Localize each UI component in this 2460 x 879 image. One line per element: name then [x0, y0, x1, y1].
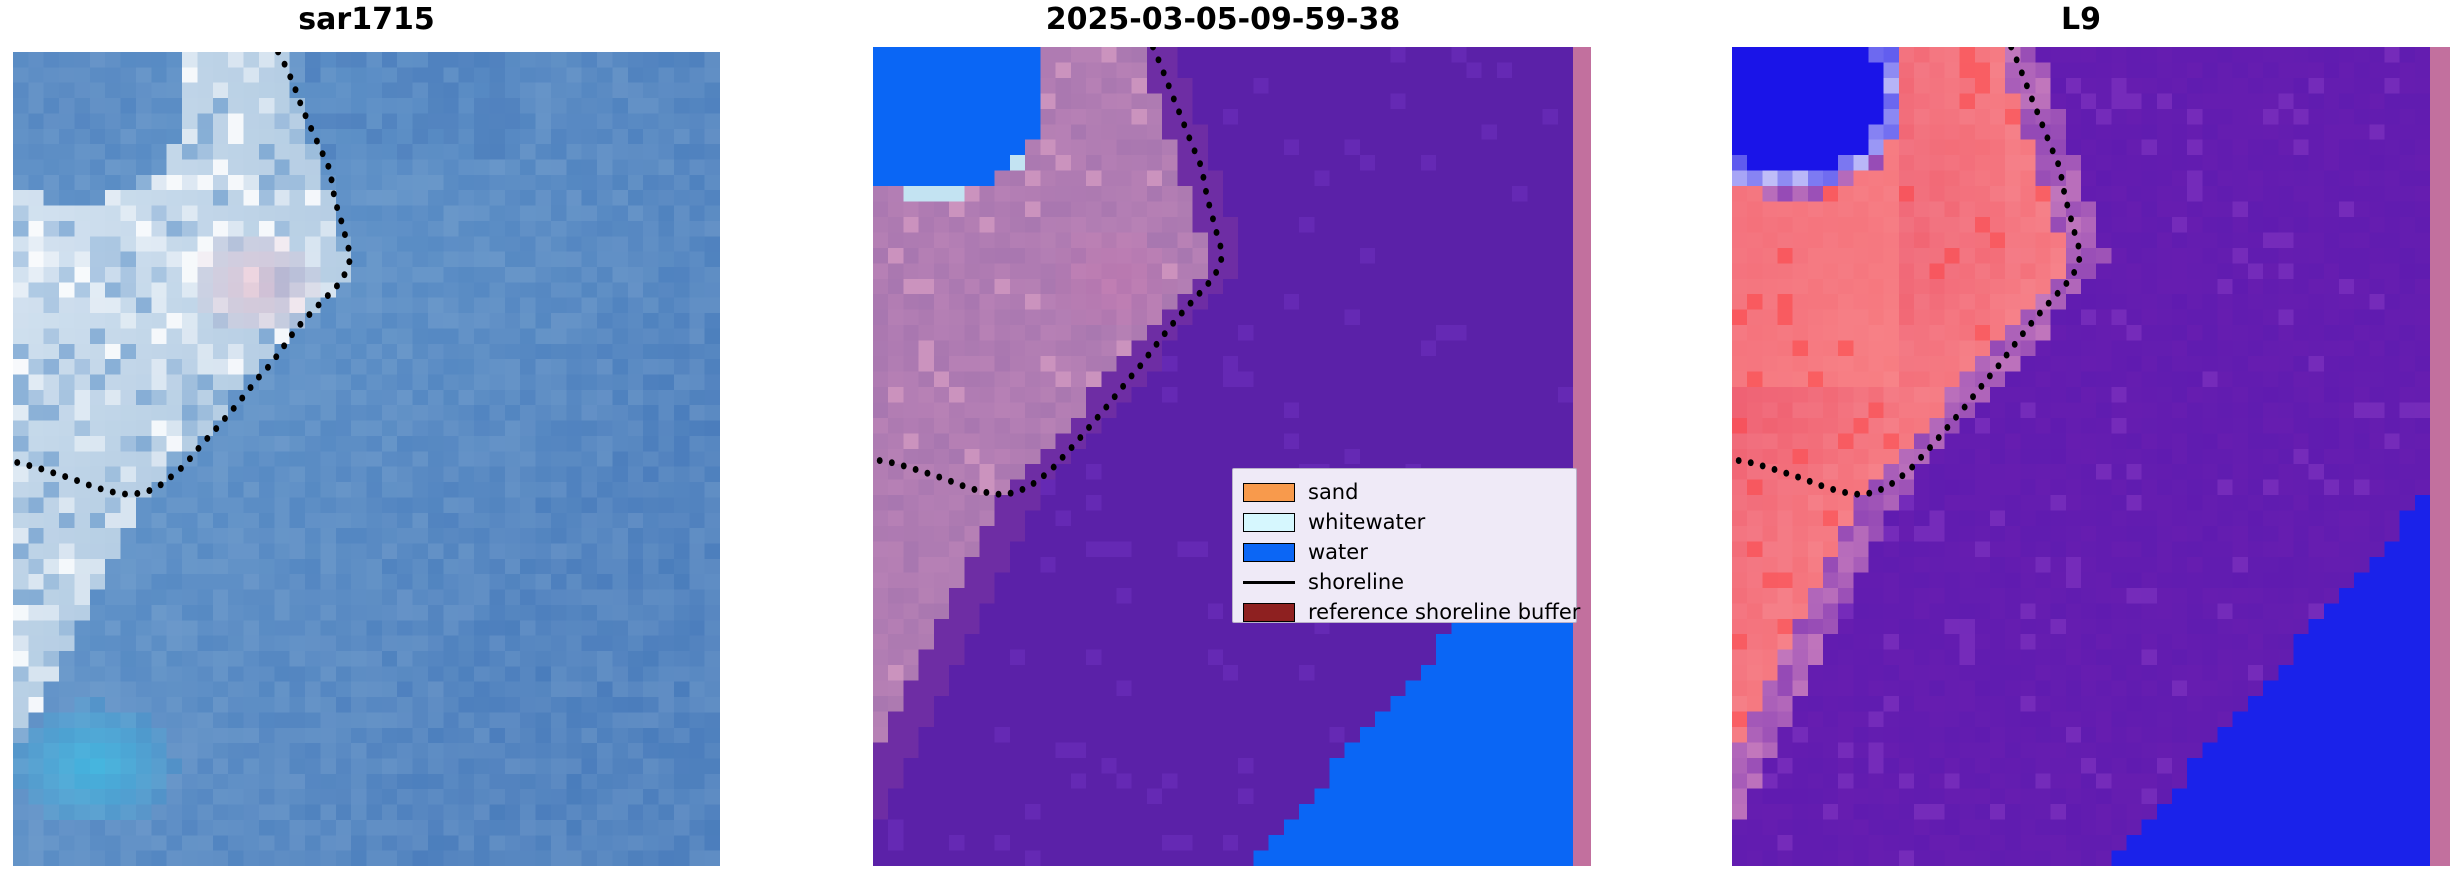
sar-image-panel[interactable]	[13, 52, 720, 866]
legend-item-label: sand	[1308, 481, 1358, 503]
classified-panel-title: 2025-03-05-09-59-38	[873, 2, 1573, 37]
legend-item-label: water	[1308, 541, 1368, 563]
l9-image-panel[interactable]	[1732, 47, 2430, 866]
figure-canvas: sar1715 2025-03-05-09-59-38 L9 sandwhite…	[0, 0, 2460, 879]
legend-color-swatch	[1243, 603, 1295, 622]
map-legend[interactable]: sandwhitewaterwatershorelinereference sh…	[1232, 468, 1577, 623]
legend-item-reference-shoreline-buffer[interactable]: reference shoreline buffer	[1243, 597, 1566, 627]
shoreline-overlay	[13, 52, 720, 866]
legend-color-swatch	[1243, 513, 1295, 532]
reference-shoreline-buffer-strip	[2430, 47, 2450, 866]
legend-item-sand[interactable]: sand	[1243, 477, 1566, 507]
legend-line-swatch	[1243, 573, 1295, 592]
classified-image-panel[interactable]	[873, 47, 1573, 866]
legend-item-label: shoreline	[1308, 571, 1404, 593]
legend-item-label: whitewater	[1308, 511, 1425, 533]
l9-panel-title: L9	[1732, 2, 2430, 37]
legend-item-shoreline[interactable]: shoreline	[1243, 567, 1566, 597]
legend-item-water[interactable]: water	[1243, 537, 1566, 567]
reference-shoreline-buffer-strip	[1573, 47, 1591, 866]
legend-item-whitewater[interactable]: whitewater	[1243, 507, 1566, 537]
l9-image-axes[interactable]	[1732, 47, 2430, 866]
shoreline-overlay	[873, 47, 1573, 866]
sar-panel-title: sar1715	[13, 2, 720, 37]
legend-color-swatch	[1243, 543, 1295, 562]
classified-image-axes[interactable]	[873, 47, 1573, 866]
sar-image-axes[interactable]	[13, 52, 720, 866]
shoreline-overlay	[1732, 47, 2430, 866]
legend-item-label: reference shoreline buffer	[1308, 601, 1580, 623]
legend-color-swatch	[1243, 483, 1295, 502]
